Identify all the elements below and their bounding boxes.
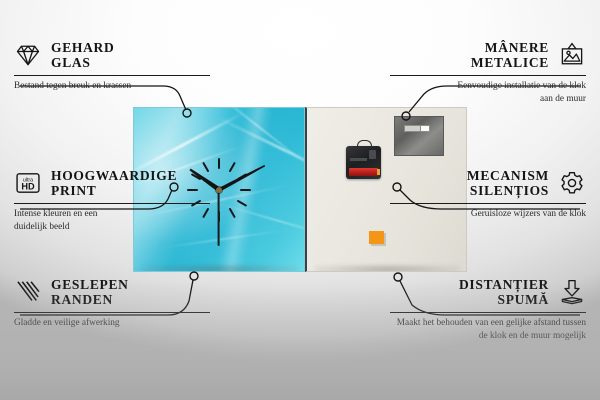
feature-divider [390, 203, 586, 204]
feature-divider [14, 203, 210, 204]
ultra-hd-icon: ultra HD [14, 169, 42, 197]
beveled-edges-icon [14, 278, 42, 306]
svg-text:HD: HD [21, 181, 35, 191]
feature-title: GEHARD GLAS [51, 40, 114, 70]
mechanism-slot [350, 158, 367, 161]
picture-frame-hanger-icon [558, 41, 586, 69]
feature-geslepen-randen[interactable]: GESLEPEN RANDEN Gladde en veilige afwerk… [14, 275, 210, 330]
feature-title: MECANISM SILENȚIOS [467, 168, 549, 198]
feature-title: DISTANȚIER SPUMĂ [459, 277, 549, 307]
metal-hanger-bracket [394, 116, 444, 156]
panel-shadow [142, 266, 298, 272]
feature-gehard-glas[interactable]: GEHARD GLAS Bestand tegen breuk en krass… [14, 38, 210, 93]
mechanism-hanging-loop [357, 140, 372, 149]
aa-battery [349, 168, 378, 176]
feature-mecanism-silentios[interactable]: MECANISM SILENȚIOS Geruisloze wijzers va… [390, 166, 586, 221]
panel-shadow [315, 266, 460, 272]
feature-heading: GEHARD GLAS [14, 38, 210, 72]
feature-heading: ultra HD HOOGWAARDIGE PRINT [14, 166, 210, 200]
mechanism-dial [369, 150, 376, 159]
feature-description: Eenvoudige installatie van de klok aan d… [446, 80, 586, 105]
hanger-slot [404, 125, 430, 132]
feature-description: Gladde en veilige afwerking [14, 317, 210, 330]
feature-distantier-spuma[interactable]: DISTANȚIER SPUMĂ Maakt het behouden van … [390, 275, 586, 342]
feature-description: Bestand tegen breuk en krassen [14, 80, 134, 93]
feature-title: MÂNERE METALICE [471, 40, 549, 70]
foam-spacer-pad [369, 231, 384, 244]
clock-second-hand [218, 190, 220, 246]
feature-heading: GESLEPEN RANDEN [14, 275, 210, 309]
clock-center-hub [216, 187, 222, 193]
feature-divider [390, 312, 586, 313]
feature-heading: DISTANȚIER SPUMĂ [390, 275, 586, 309]
feature-heading: MECANISM SILENȚIOS [390, 166, 586, 200]
feature-title: GESLEPEN RANDEN [51, 277, 129, 307]
feature-divider [14, 312, 210, 313]
feature-heading: MÂNERE METALICE [390, 38, 586, 72]
diamond-icon [14, 41, 42, 69]
infographic-canvas: GEHARD GLAS Bestand tegen breuk en krass… [0, 0, 600, 400]
feature-divider [390, 75, 586, 76]
gear-icon [558, 169, 586, 197]
feature-divider [14, 75, 210, 76]
foam-spacer-arrow-icon [558, 278, 586, 306]
clock-mechanism-box [346, 146, 381, 179]
feature-hoogwaardige-print[interactable]: ultra HD HOOGWAARDIGE PRINT Intense kleu… [14, 166, 210, 233]
feature-title: HOOGWAARDIGE PRINT [51, 168, 177, 198]
feature-description: Intense kleuren en een duidelijk beeld [14, 208, 132, 233]
feature-manere-metalice[interactable]: MÂNERE METALICE Eenvoudige installatie v… [390, 38, 586, 105]
feature-description: Maakt het behouden van een gelijke afsta… [396, 317, 586, 342]
feature-description: Geruisloze wijzers van de klok [461, 208, 586, 221]
